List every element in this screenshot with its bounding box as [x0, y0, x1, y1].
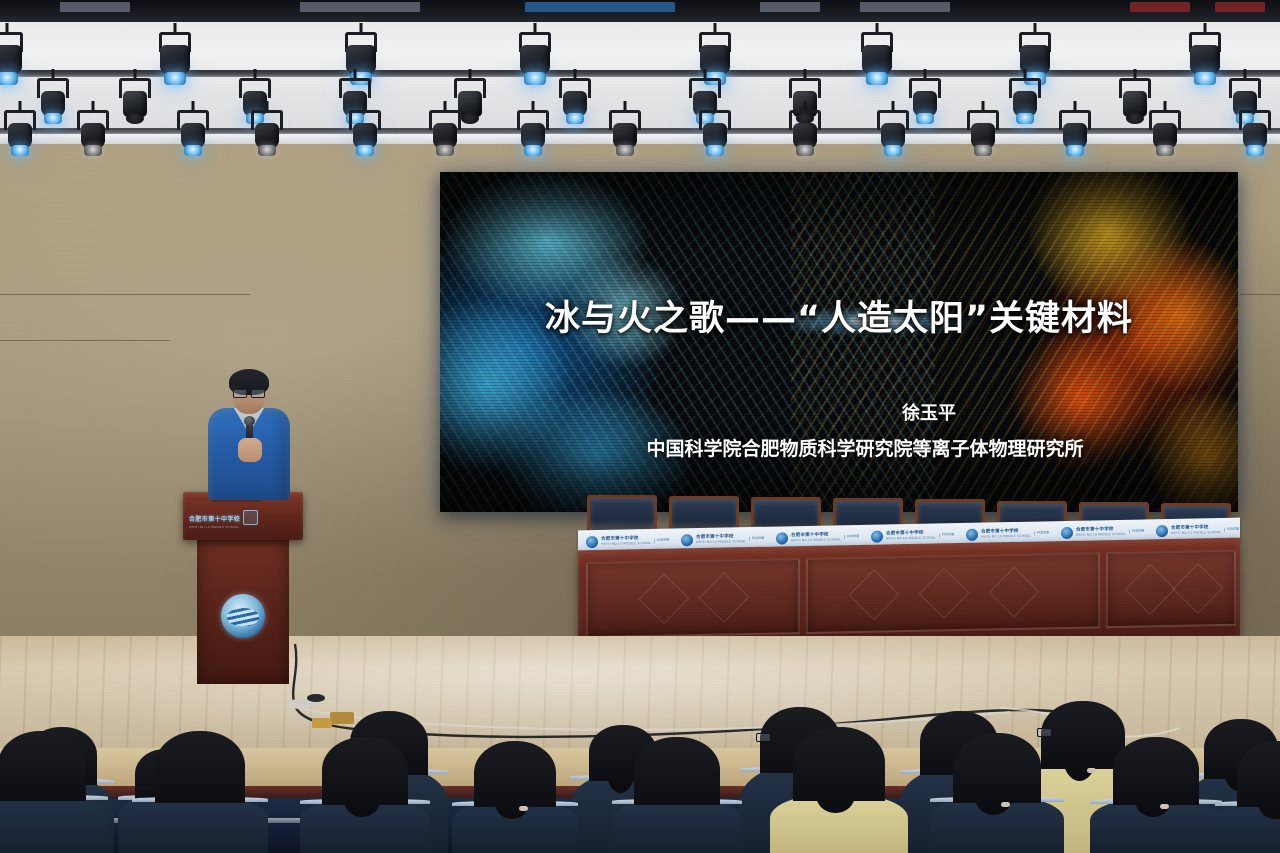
audience-head	[1113, 737, 1199, 805]
table-banner-sub: HEFEI NO.10 MIDDLE SCHOOL	[981, 535, 1031, 540]
audience-uniform	[0, 795, 108, 853]
table-banner-logo-card: 合肥市第十中学校HEFEI NO.10 MIDDLE SCHOOL科普讲座	[681, 531, 764, 549]
hair-tie	[1001, 802, 1010, 807]
table-banner-text: 合肥市第十中学校HEFEI NO.10 MIDDLE SCHOOL	[1076, 527, 1126, 537]
hair-tie	[1160, 804, 1169, 809]
audience-person	[452, 735, 578, 853]
audience-glasses-icon	[756, 733, 771, 742]
lectern-banner-sub: HEFEI NO.10 MIDDLE SCHOOL	[189, 525, 240, 529]
audience-uniform	[612, 799, 742, 853]
slide-affiliation: 中国科学院合肥物质科学研究院等离子体物理研究所	[440, 434, 1238, 461]
table-banner-logo-card: 合肥市第十中学校HEFEI NO.10 MIDDLE SCHOOL科普讲座	[871, 527, 954, 545]
table-banner-text: 合肥市第十中学校HEFEI NO.10 MIDDLE SCHOOL	[696, 534, 746, 544]
school-logo-icon	[1156, 525, 1168, 537]
school-logo-icon	[871, 530, 883, 542]
speaker-glasses-icon	[233, 389, 265, 396]
school-logo-icon	[586, 536, 598, 548]
table-banner-logo-card: 合肥市第十中学校HEFEI NO.10 MIDDLE SCHOOL科普讲座	[966, 525, 1049, 543]
table-banner-tag: 科普讲座	[1224, 528, 1239, 532]
lectern-banner: 合肥市第十中学校 HEFEI NO.10 MIDDLE SCHOOL	[189, 508, 297, 526]
school-logo-icon	[966, 529, 978, 541]
table-banner-tag: 科普讲座	[749, 537, 764, 541]
audience-person	[612, 731, 742, 853]
audience-head	[0, 731, 86, 801]
slide-title: 冰与火之歌——“人造太阳”关键材料	[440, 290, 1238, 341]
audience-head	[793, 727, 885, 801]
audience-head	[634, 737, 720, 805]
table-banner-logo-card: 合肥市第十中学校HEFEI NO.10 MIDDLE SCHOOL科普讲座	[586, 533, 669, 551]
table-banner-sub: HEFEI NO.10 MIDDLE SCHOOL	[886, 536, 936, 541]
lectern-banner-text: 合肥市第十中学校	[189, 516, 240, 523]
speaker-hands	[238, 438, 262, 462]
audience-person	[0, 725, 108, 853]
table-banner-logo-card: 合肥市第十中学校HEFEI NO.10 MIDDLE SCHOOL科普讲座	[1061, 523, 1144, 541]
table-banner-logo-card: 合肥市第十中学校HEFEI NO.10 MIDDLE SCHOOL科普讲座	[776, 529, 859, 547]
audience-person	[1215, 735, 1280, 853]
table-banner-tag: 科普讲座	[844, 535, 859, 539]
table-banner-sub: HEFEI NO.10 MIDDLE SCHOOL	[791, 538, 841, 543]
audience-head	[155, 731, 245, 803]
table-banner-text: 合肥市第十中学校HEFEI NO.10 MIDDLE SCHOOL	[981, 529, 1031, 539]
auditorium-photo: 冰与火之歌——“人造太阳”关键材料 徐玉平 中国科学院合肥物质科学研究院等离子体…	[0, 0, 1280, 853]
speaker-person	[206, 372, 292, 500]
audience-person	[930, 727, 1064, 853]
audience-person	[132, 725, 268, 853]
lectern: 合肥市第十中学校 HEFEI NO.10 MIDDLE SCHOOL 徐玉平	[183, 492, 303, 684]
microphone-icon	[244, 416, 255, 426]
table-banner-sub: HEFEI NO.10 MIDDLE SCHOOL	[1076, 533, 1126, 538]
lectern-banner-mark	[243, 510, 258, 525]
ceiling-seam-upper	[0, 70, 1280, 77]
table-banner-tag: 科普讲座	[939, 533, 954, 537]
school-logo-icon	[681, 534, 693, 546]
audience-person	[770, 721, 908, 853]
table-banner-sub: HEFEI NO.10 MIDDLE SCHOOL	[601, 542, 651, 547]
table-banner-text: 合肥市第十中学校HEFEI NO.10 MIDDLE SCHOOL	[1171, 525, 1221, 535]
table-banner-logo-card: 合肥市第十中学校HEFEI NO.10 MIDDLE SCHOOL科普讲座	[1156, 522, 1239, 540]
table-banner-sub: HEFEI NO.10 MIDDLE SCHOOL	[1171, 531, 1221, 536]
audience-head	[322, 737, 408, 805]
audience-head	[953, 733, 1041, 803]
school-logo-icon	[1061, 527, 1073, 539]
table-banner-tag: 科普讲座	[1034, 531, 1049, 535]
table-banner-text: 合肥市第十中学校HEFEI NO.10 MIDDLE SCHOOL	[886, 531, 936, 541]
slide-author: 徐玉平	[440, 399, 1238, 425]
table-banner-text: 合肥市第十中学校HEFEI NO.10 MIDDLE SCHOOL	[791, 533, 841, 543]
school-crest-icon	[221, 594, 265, 638]
audience-head	[1237, 741, 1280, 807]
audience-person	[300, 731, 430, 853]
table-banner-tag: 科普讲座	[1129, 530, 1144, 534]
lectern-base	[197, 538, 289, 684]
audience-person	[1090, 731, 1222, 853]
hair-tie	[519, 806, 528, 811]
audience-head	[474, 741, 556, 807]
table-banner-sub: HEFEI NO.10 MIDDLE SCHOOL	[696, 540, 746, 545]
table-banner-text: 合肥市第十中学校HEFEI NO.10 MIDDLE SCHOOL	[601, 536, 651, 546]
led-screen: 冰与火之歌——“人造太阳”关键材料 徐玉平 中国科学院合肥物质科学研究院等离子体…	[440, 172, 1238, 512]
led-scanline-texture	[440, 172, 1238, 512]
audience-rows	[0, 690, 1280, 853]
school-logo-icon	[776, 532, 788, 544]
audience-uniform	[132, 797, 268, 853]
table-banner-tag: 科普讲座	[654, 539, 669, 543]
